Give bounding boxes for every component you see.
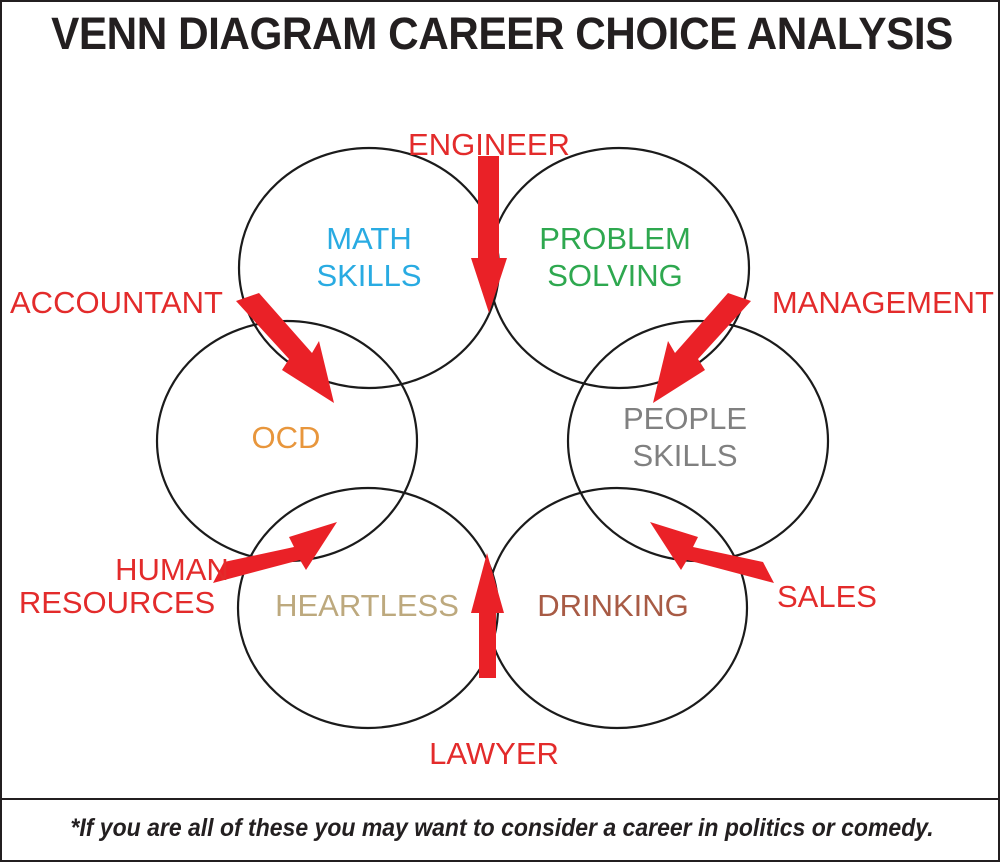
label-drinking: DRINKING (537, 588, 689, 623)
label-math-skills-line2: SKILLS (316, 258, 421, 293)
arrow-sales (650, 522, 774, 583)
label-engineer: ENGINEER (408, 127, 570, 162)
venn-diagram-poster: VENN DIAGRAM CAREER CHOICE ANALYSIS (0, 0, 1000, 862)
label-human-resources-line2: RESOURCES (19, 585, 215, 620)
caption-divider (2, 798, 1000, 800)
label-ocd: OCD (252, 420, 321, 455)
arrow-management (653, 293, 751, 403)
label-accountant: ACCOUNTANT (10, 285, 223, 320)
label-people-skills-line1: PEOPLE (623, 401, 747, 436)
label-heartless: HEARTLESS (275, 588, 459, 623)
arrow-engineer (471, 156, 507, 313)
label-management: MANAGEMENT (772, 285, 994, 320)
label-people-skills-line2: SKILLS (632, 438, 737, 473)
label-human-resources-line1: HUMAN (115, 552, 229, 587)
arrow-accountant (236, 293, 334, 403)
page-title: VENN DIAGRAM CAREER CHOICE ANALYSIS (32, 8, 972, 60)
label-math-skills-line1: MATH (326, 221, 412, 256)
arrow-human-resources (213, 522, 337, 583)
label-sales: SALES (777, 579, 877, 614)
label-lawyer: LAWYER (429, 736, 559, 771)
label-problem-solving-line2: SOLVING (547, 258, 683, 293)
venn-diagram-canvas: MATH SKILLS PROBLEM SOLVING OCD PEOPLE S… (2, 98, 1000, 798)
footnote-caption: *If you are all of these you may want to… (42, 814, 962, 843)
label-problem-solving-line1: PROBLEM (539, 221, 691, 256)
